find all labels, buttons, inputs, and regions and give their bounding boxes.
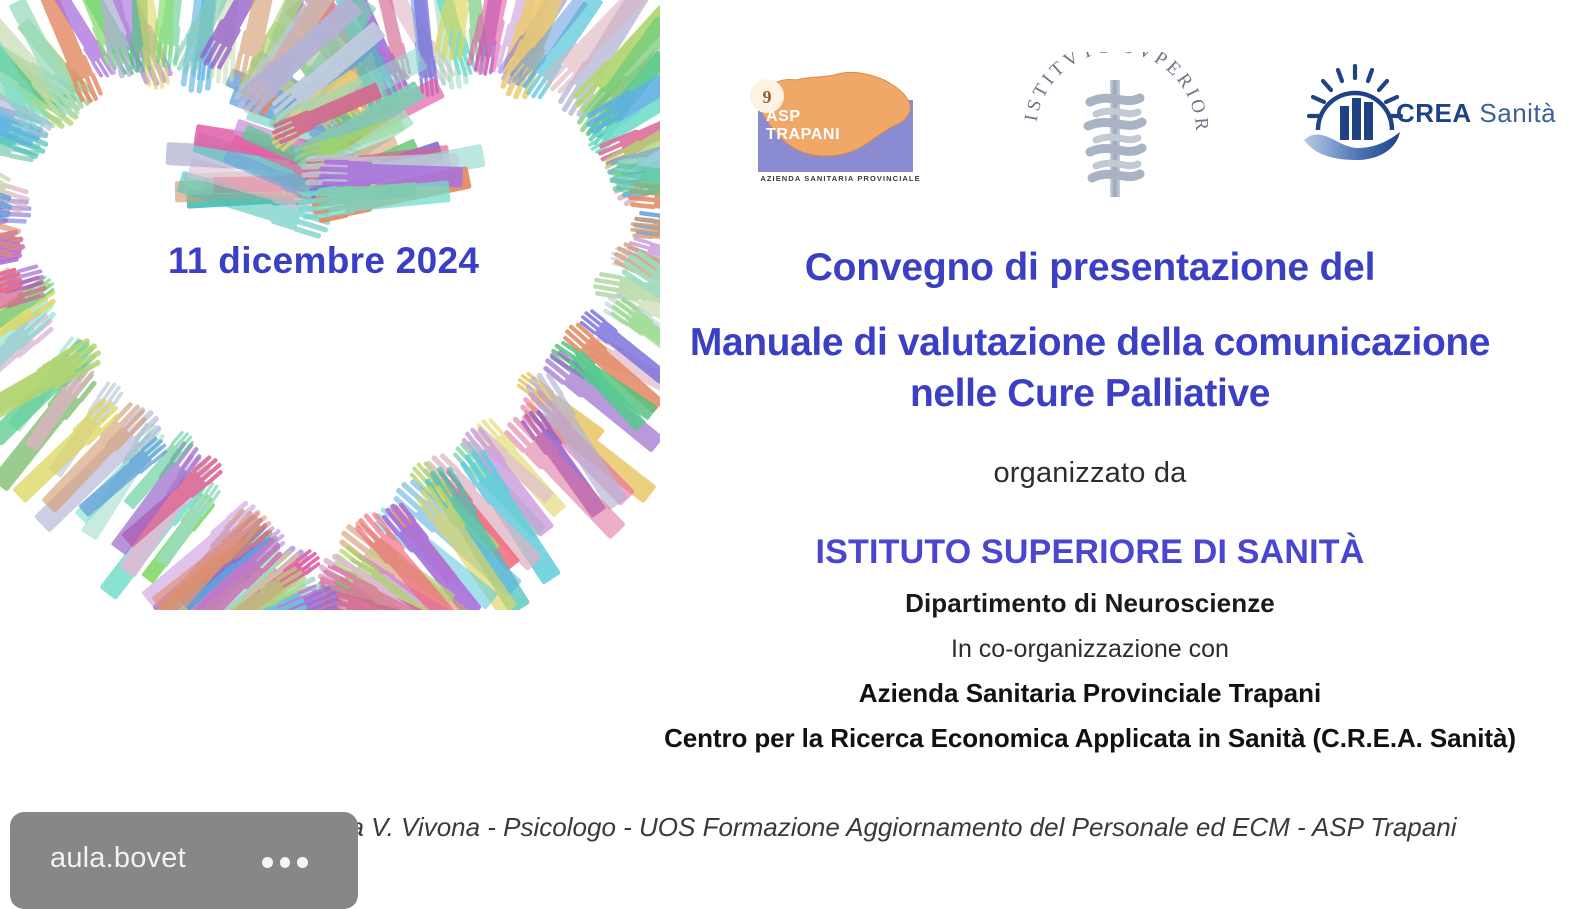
crea-bold: CREA [1396,98,1472,128]
istituto-superiore-di-sanita-logo: ISTITVTO SVPERIORE DI SANITA [1018,52,1213,197]
logo-row: 9 ASP TRAPANI AZIENDA SANITARIA PROVINCI… [700,42,1580,197]
co-organizer-2: Centro per la Ricerca Economica Applicat… [610,723,1570,754]
co-organized-label: In co-organizzazione con [610,635,1570,664]
dot-2 [280,857,291,868]
asp-trapani-logo: 9 ASP TRAPANI AZIENDA SANITARIA PROVINCI… [722,64,914,184]
dot-3 [297,857,308,868]
headline: Convegno di presentazione del [610,248,1570,287]
dot-1 [262,857,273,868]
more-options-icon[interactable] [262,856,308,868]
participant-name: aula.bovet [50,842,186,875]
organizer-name: ISTITUTO SUPERIORE DI SANITÀ [610,533,1570,572]
crea-sanita-logo: CREA Sanità [1300,62,1580,172]
svg-text:9: 9 [763,87,772,107]
asp-acronym: ASP TRAPANI [766,108,840,144]
crea-wordmark: CREA Sanità [1396,98,1556,129]
presentation-slide: 11 dicembre 2024 9 ASP TRAPANI AZIENDA S… [0,0,1595,909]
slide-text-block: Convegno di presentazione del Manuale di… [610,248,1570,754]
asp-subtitle: AZIENDA SANITARIA PROVINCIALE [758,174,923,183]
organizer-department: Dipartimento di Neuroscienze [610,588,1570,619]
subject-title: Manuale di valutazione della comunicazio… [610,317,1570,420]
subject-line-1: Manuale di valutazione della comunicazio… [610,317,1570,368]
subject-line-2: nelle Cure Palliative [610,368,1570,419]
event-date: 11 dicembre 2024 [168,240,479,282]
organized-by-label: organizzato da [610,457,1570,490]
heart-of-hands-illustration [0,0,660,610]
crea-light: Sanità [1479,98,1556,128]
video-participant-tile[interactable]: aula.bovet [10,812,358,909]
co-organizer-1: Azienda Sanitaria Provinciale Trapani [610,678,1570,709]
